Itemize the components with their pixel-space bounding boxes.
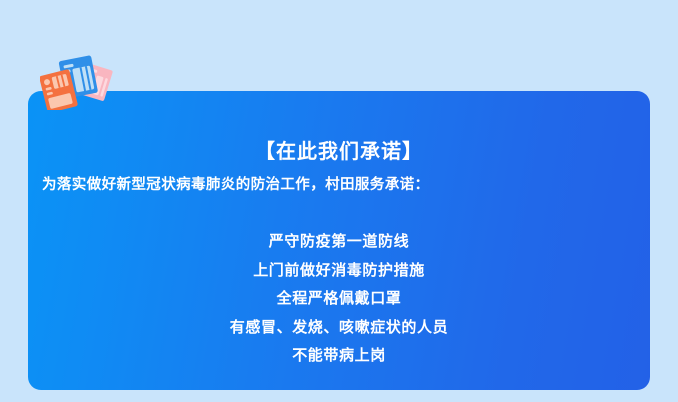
promise-line: 严守防疫第一道防线: [269, 228, 409, 257]
page-title: 【在此我们承诺】: [0, 138, 678, 166]
promise-line: 有感冒、发烧、咳嗽症状的人员: [230, 314, 448, 343]
promise-line: 不能带病上岗: [292, 342, 386, 371]
promise-line: 上门前做好消毒防护措施: [253, 257, 425, 286]
promise-line-list: 严守防疫第一道防线 上门前做好消毒防护措施 全程严格佩戴口罩 有感冒、发烧、咳嗽…: [0, 228, 678, 371]
promise-subtitle: 为落实做好新型冠状病毒肺炎的防治工作，村田服务承诺：: [42, 174, 429, 196]
page-root: 【在此我们承诺】 为落实做好新型冠状病毒肺炎的防治工作，村田服务承诺： 严守防疫…: [0, 0, 678, 402]
promise-line: 全程严格佩戴口罩: [277, 285, 402, 314]
